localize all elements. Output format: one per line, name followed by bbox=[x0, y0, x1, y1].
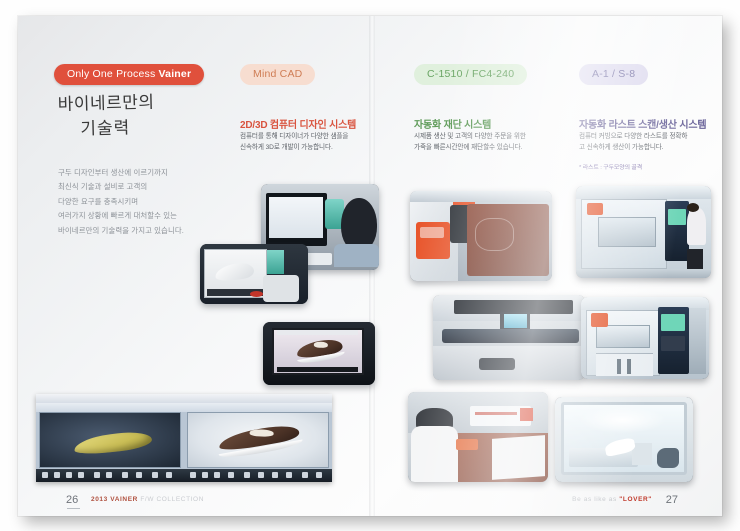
headline-handwritten: 바이네르만의 기술력 bbox=[57, 89, 218, 142]
photo-wide-cutting-table bbox=[433, 295, 585, 380]
column-title-cutting: 자동화 재단 시스템 bbox=[414, 116, 491, 131]
page-footer: 26 2013 VAINER F/W COLLECTION Be as like… bbox=[18, 482, 722, 516]
footer-lover-right: "LOVER" bbox=[619, 496, 652, 503]
pill-prefix-text: Only One Process bbox=[67, 68, 159, 80]
cad-toolbar-right bbox=[184, 403, 332, 412]
cad-statusbar-right bbox=[184, 469, 332, 482]
photo-worker-cutting-leather bbox=[408, 392, 548, 482]
column-title-last: 자동화 라스트 스캔/생산 시스템 bbox=[579, 116, 706, 131]
cad-statusbar-left bbox=[36, 469, 184, 482]
page-number-left: 26 bbox=[66, 494, 78, 506]
pill-mind-cad: Mind CAD bbox=[240, 64, 315, 85]
intro-paragraph: 구두 디자인부터 생산에 이르기까지 최신식 기술과 설비로 고객의 다양한 요… bbox=[58, 166, 228, 238]
screenshot-root: Only One Process Vainer Mind CAD C-1510 … bbox=[0, 0, 740, 531]
brochure-spread: Only One Process Vainer Mind CAD C-1510 … bbox=[18, 16, 722, 516]
pill-brand-text: Vainer bbox=[159, 68, 192, 80]
column-body-design: 컴퓨터를 통해 디자이너가 다양한 샘플을 신속하게 3D로 개발이 가능합니다… bbox=[240, 132, 390, 154]
cad-window-right bbox=[184, 394, 332, 482]
column-note-last: * 라스트 : 구두모양의 골격 bbox=[579, 162, 642, 171]
footer-text-left: 2013 VAINER F/W COLLECTION bbox=[91, 496, 204, 503]
cad-toolbar-left bbox=[36, 403, 184, 412]
photo-monitor-brown-shoe bbox=[263, 322, 375, 385]
pill-last-model: A-1 / S-8 bbox=[579, 64, 648, 85]
column-body-last: 컴퓨터 커빙으로 다양한 라스트를 정확하 고 신속하게 생산이 가능합니다. bbox=[579, 132, 729, 154]
footer-tagline-right: Be as like as bbox=[572, 496, 619, 503]
photo-cad-screen-last bbox=[200, 244, 308, 304]
footer-collection-left: F/W COLLECTION bbox=[138, 496, 204, 503]
photo-cnc-last-production bbox=[581, 297, 709, 379]
cad-canvas-left bbox=[39, 412, 181, 468]
column-title-design: 2D/3D 컴퓨터 디자인 시스템 bbox=[240, 116, 356, 131]
headline-line-2: 기술력 bbox=[80, 114, 219, 142]
photo-glass-enclosure-machine bbox=[555, 397, 693, 482]
column-body-cutting: 시제품 생산 및 고객의 다양한 주문을 위한 가죽을 빠른시간안에 재단할수 … bbox=[414, 132, 574, 154]
photo-cnc-machine-operator bbox=[576, 186, 711, 278]
page-number-right: 27 bbox=[666, 494, 678, 506]
cad-software-screenshot-strip bbox=[36, 394, 332, 482]
cad-window-left bbox=[36, 394, 184, 482]
shoe-model-yellow bbox=[73, 429, 153, 457]
shoe-model-brown bbox=[217, 422, 301, 459]
photo-leather-cutting-machine bbox=[410, 191, 552, 281]
pill-only-one-process: Only One Process Vainer bbox=[54, 64, 204, 85]
pill-cutting-model: C-1510 / FC4-240 bbox=[414, 64, 527, 85]
footer-text-right: Be as like as "LOVER" bbox=[572, 496, 652, 503]
cad-canvas-right bbox=[187, 412, 329, 468]
footer-brand-left: 2013 VAINER bbox=[91, 496, 138, 503]
